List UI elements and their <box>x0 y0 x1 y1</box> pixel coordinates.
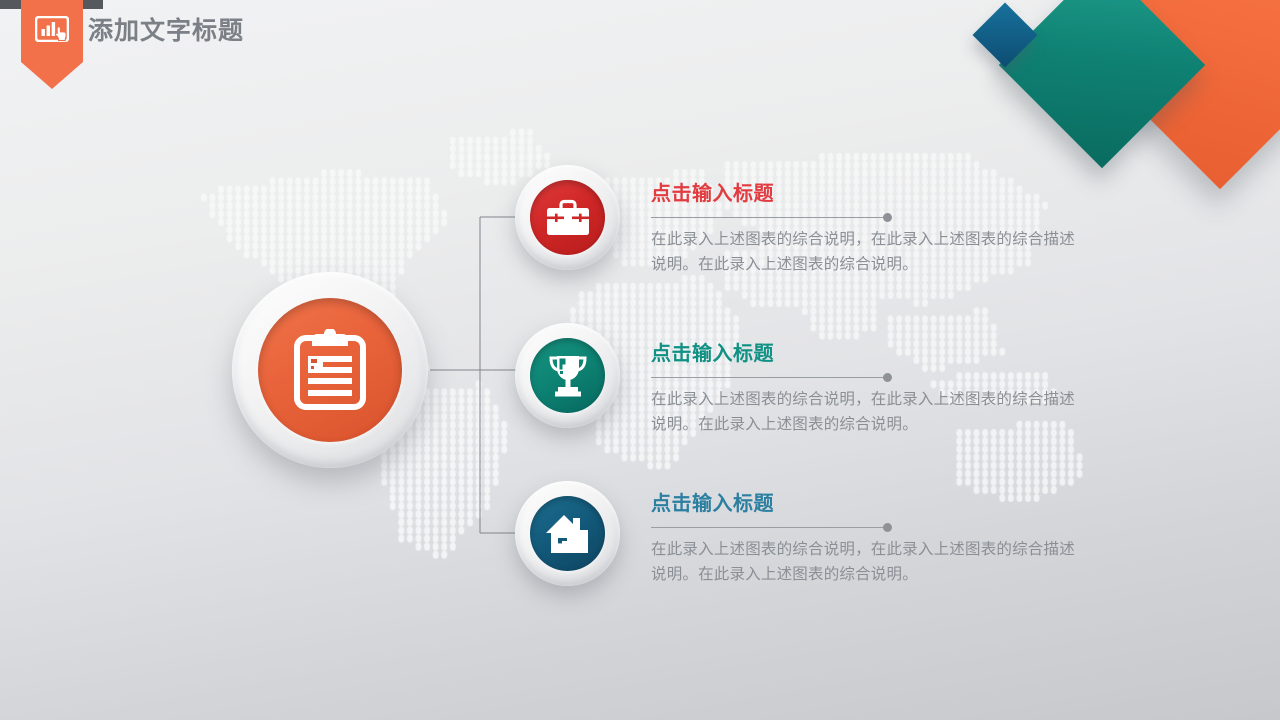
rule-line-1 <box>651 217 883 218</box>
item-rule-1 <box>651 212 1091 223</box>
item-node-3-inner <box>530 496 605 571</box>
item-text-block-2: 点击输入标题 在此录入上述图表的综合说明，在此录入上述图表的综合描述说明。在此录… <box>651 343 1091 437</box>
house-icon <box>545 513 591 555</box>
item-body-2: 在此录入上述图表的综合说明，在此录入上述图表的综合描述说明。在此录入上述图表的综… <box>651 387 1086 437</box>
item-rule-3 <box>651 522 1091 533</box>
center-node-inner <box>258 298 402 442</box>
page-title: 添加文字标题 <box>88 11 244 47</box>
item-text-block-3: 点击输入标题 在此录入上述图表的综合说明，在此录入上述图表的综合描述说明。在此录… <box>651 493 1091 587</box>
item-title-1: 点击输入标题 <box>651 183 1091 205</box>
item-text-block-1: 点击输入标题 在此录入上述图表的综合说明，在此录入上述图表的综合描述说明。在此录… <box>651 183 1091 277</box>
rule-dot-2 <box>883 373 892 382</box>
header-tag-banner <box>21 0 83 62</box>
item-title-2: 点击输入标题 <box>651 343 1091 365</box>
item-node-2-inner <box>530 338 605 413</box>
item-title-3: 点击输入标题 <box>651 493 1091 515</box>
item-body-3: 在此录入上述图表的综合说明，在此录入上述图表的综合描述说明。在此录入上述图表的综… <box>651 537 1086 587</box>
rule-dot-1 <box>883 213 892 222</box>
briefcase-icon <box>546 199 590 237</box>
item-body-1: 在此录入上述图表的综合说明，在此录入上述图表的综合描述说明。在此录入上述图表的综… <box>651 227 1086 277</box>
item-node-1[interactable] <box>515 165 620 270</box>
rule-line-2 <box>651 377 883 378</box>
clipboard-icon <box>293 329 367 411</box>
item-node-1-inner <box>530 180 605 255</box>
rule-dot-3 <box>883 523 892 532</box>
item-rule-2 <box>651 372 1091 383</box>
chart-tablet-touch-icon <box>35 16 69 42</box>
trophy-icon <box>547 354 589 398</box>
item-node-3[interactable] <box>515 481 620 586</box>
item-node-2[interactable] <box>515 323 620 428</box>
rule-line-3 <box>651 527 883 528</box>
center-node[interactable] <box>232 272 428 468</box>
